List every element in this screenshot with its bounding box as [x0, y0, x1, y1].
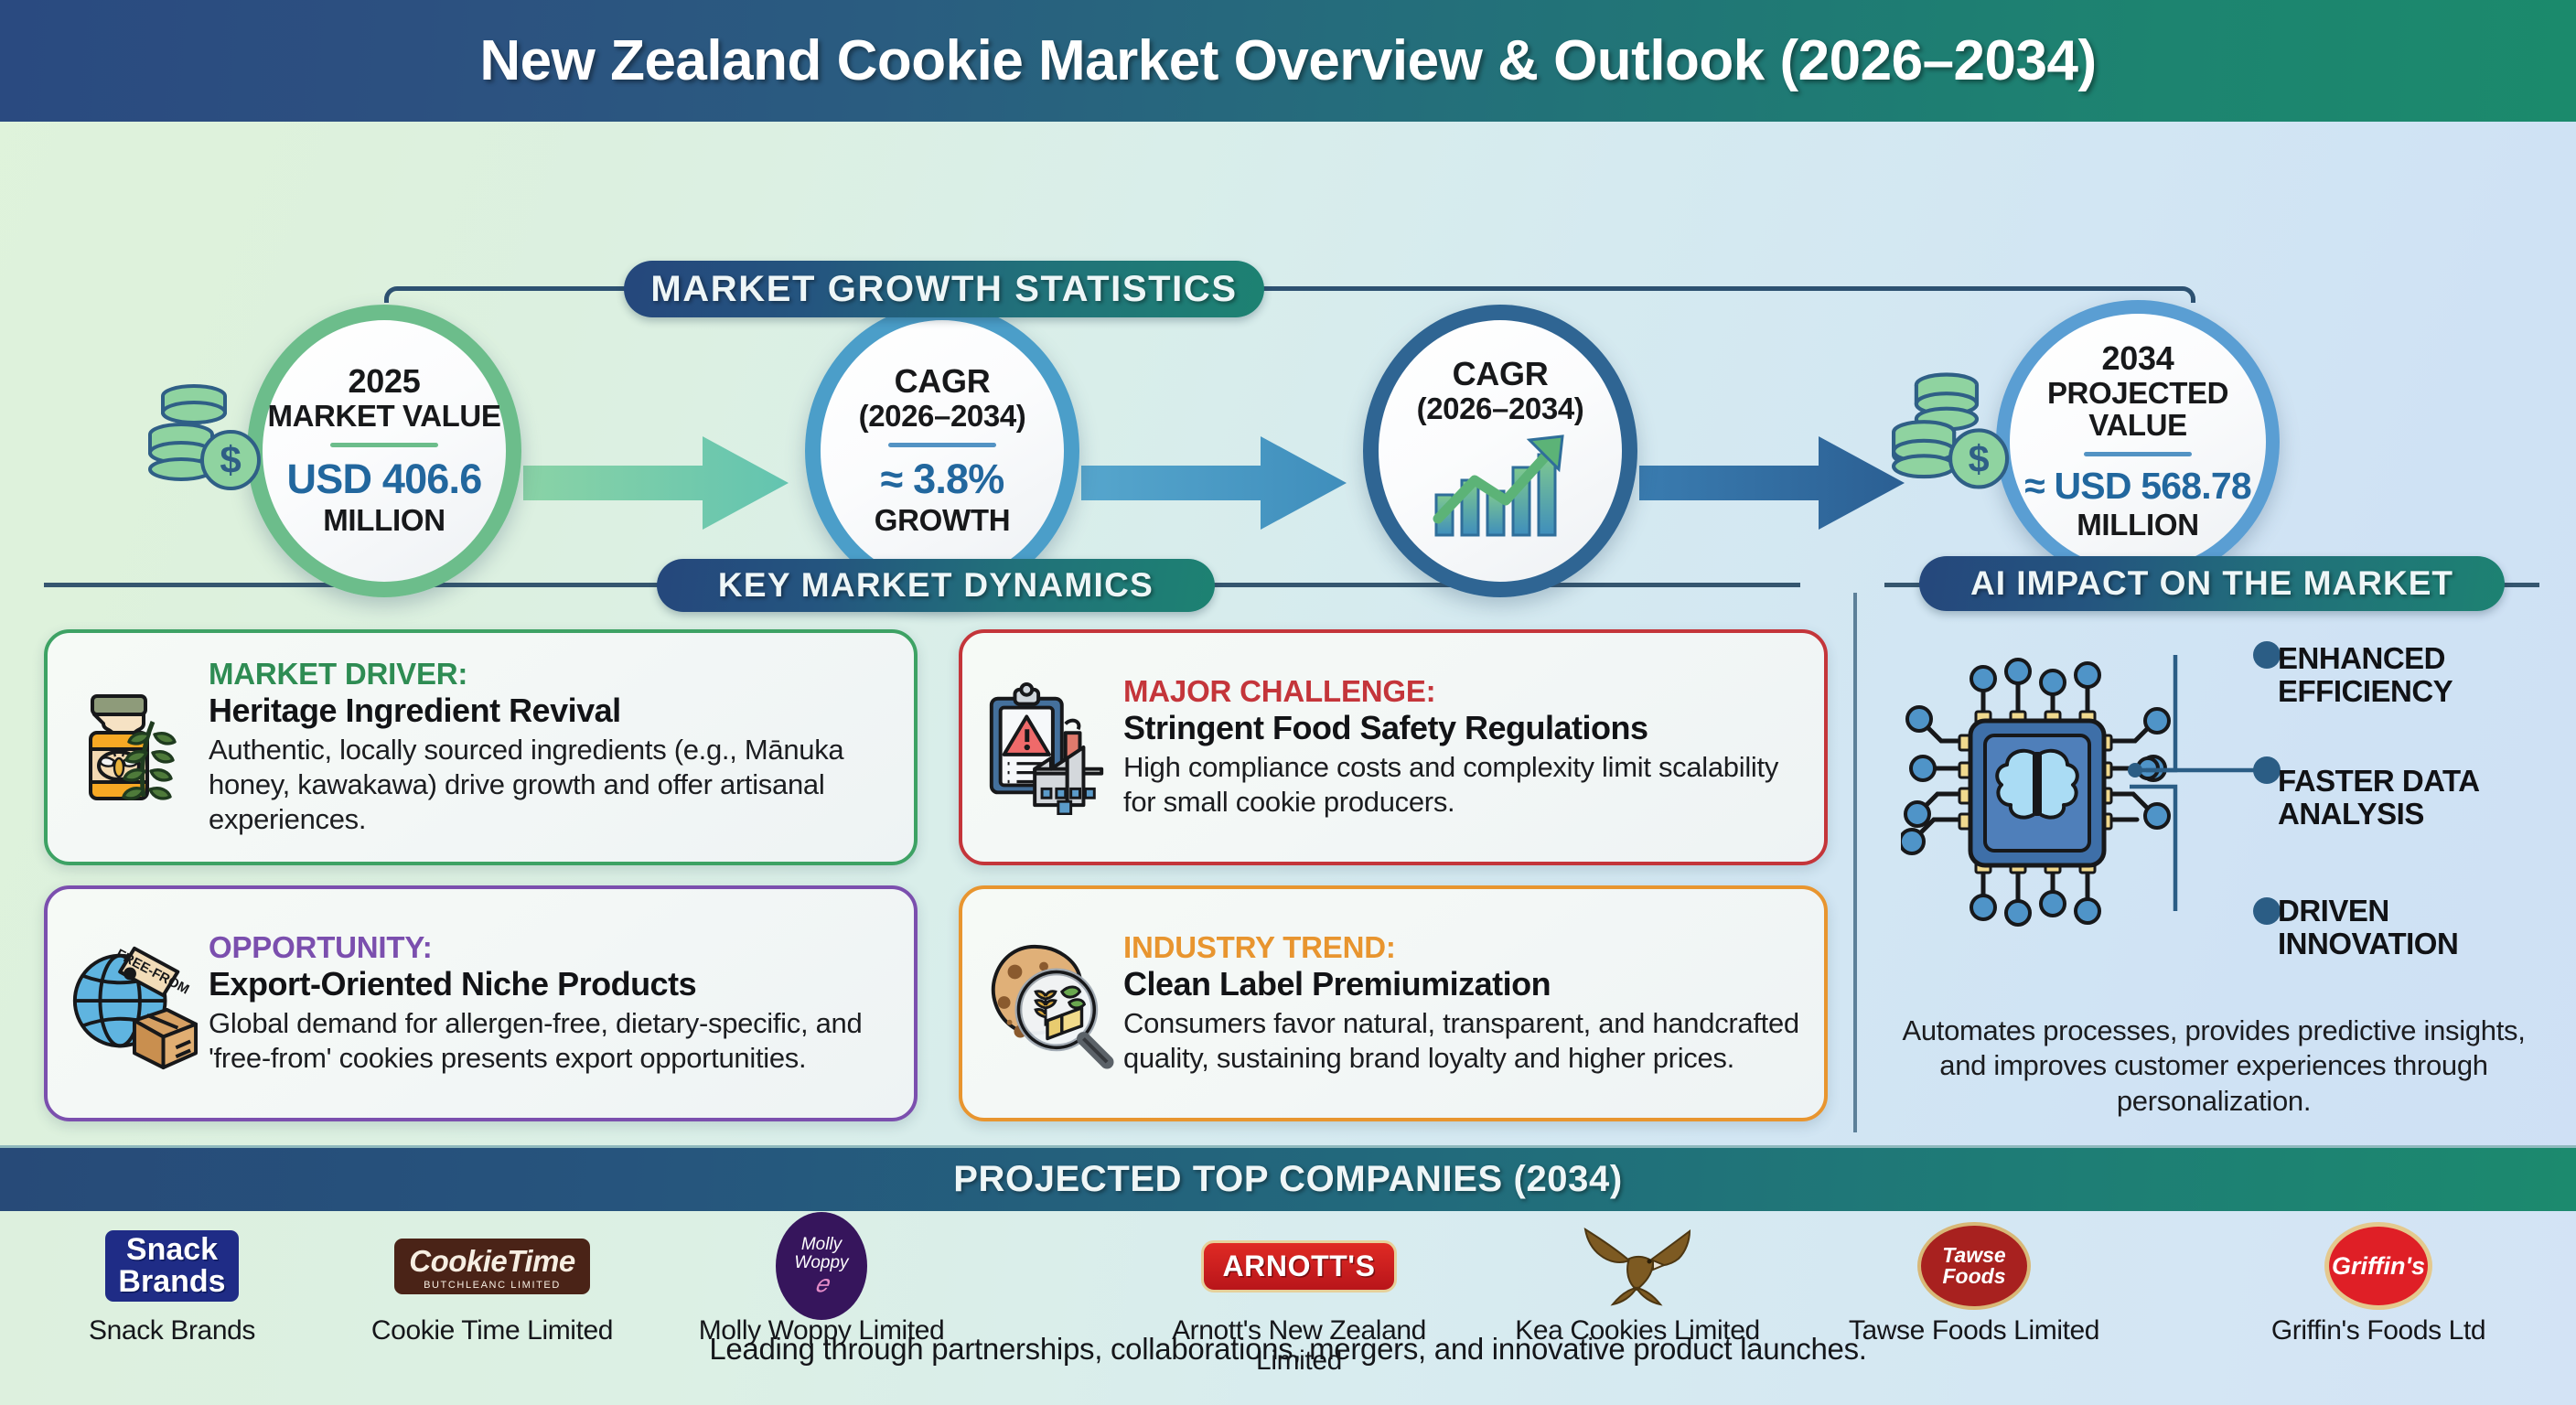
dynamics-card-text: INDUSTRY TREND: Clean Label Premiumizati…: [1114, 931, 1800, 1076]
card-headline: Clean Label Premiumization: [1123, 965, 1800, 1003]
logo-line-2: BUTCHLEANC LIMITED: [409, 1280, 574, 1291]
stat-label-primary: 2025: [349, 364, 421, 400]
kea-bird-logo: [1482, 1222, 1793, 1310]
section-label-text: KEY MARKET DYNAMICS: [718, 566, 1154, 605]
company-item[interactable]: Kea Cookies Limited: [1482, 1222, 1793, 1346]
market-growth-statistics-section: MARKET GROWTH STATISTICS $ 2025 MAR: [0, 122, 2576, 553]
logo-line-1: Tawse: [1942, 1245, 2005, 1266]
stat-divider: [2084, 452, 2192, 456]
stat-node-2025-market-value[interactable]: $ 2025 MARKET VALUE USD 406.6 MILLION: [247, 305, 521, 597]
stat-divider: [888, 443, 996, 447]
logo-line-2: Brands: [118, 1266, 225, 1298]
card-kicker: OPPORTUNITY:: [209, 931, 890, 965]
company-item[interactable]: Tawse Foods Tawse Foods Limited: [1819, 1222, 2130, 1346]
page-title: New Zealand Cookie Market Overview & Out…: [479, 28, 2096, 93]
company-item[interactable]: Molly Woppy 𝑒 Molly Woppy Limited: [666, 1222, 977, 1346]
card-body: Consumers favor natural, transparent, an…: [1123, 1006, 1800, 1076]
dynamics-card-opportunity[interactable]: FREE-FROM OPPORTUNITY: Export-Oriented N…: [44, 885, 918, 1121]
cookie-magnifier-icon: [979, 935, 1114, 1072]
card-kicker: MARKET DRIVER:: [209, 658, 890, 692]
stat-unit: GROWTH: [875, 503, 1011, 538]
stat-circle: 2025 MARKET VALUE USD 406.6 MILLION: [247, 305, 521, 597]
dynamics-card-text: MAJOR CHALLENGE: Stringent Food Safety R…: [1114, 675, 1800, 820]
tawse-foods-logo: Tawse Foods: [1819, 1222, 2130, 1310]
logo-line-1: Griffin's: [2324, 1222, 2432, 1310]
dynamics-card-major-challenge[interactable]: MAJOR CHALLENGE: Stringent Food Safety R…: [959, 629, 1828, 865]
griffins-logo: Griffin's: [2223, 1222, 2534, 1310]
molly-woppy-logo: Molly Woppy 𝑒: [666, 1222, 977, 1310]
growth-chart-arrow-icon: [1427, 431, 1573, 545]
page-header: New Zealand Cookie Market Overview & Out…: [0, 0, 2576, 122]
card-headline: Heritage Ingredient Revival: [209, 692, 890, 729]
stat-node-cagr-growth[interactable]: CAGR (2026–2034) ≈ 3.8% GROWTH: [805, 305, 1079, 597]
card-body: High compliance costs and complexity lim…: [1123, 750, 1800, 820]
cookie-time-logo: CookieTime BUTCHLEANC LIMITED: [337, 1222, 648, 1310]
section-label-text: MARKET GROWTH STATISTICS: [650, 269, 1237, 310]
ai-benefit-item: DRIVEN INNOVATION: [2278, 895, 2543, 961]
ai-caption: Automates processes, provides predictive…: [1894, 1014, 2534, 1119]
card-headline: Export-Oriented Niche Products: [209, 965, 890, 1003]
logo-line-2: Foods: [1943, 1266, 2006, 1287]
dynamics-card-text: OPPORTUNITY: Export-Oriented Niche Produ…: [199, 931, 890, 1076]
stat-value: USD 406.6: [287, 456, 482, 503]
companies-footnote: Leading through partnerships, collaborat…: [0, 1332, 2576, 1367]
projected-top-companies-banner: PROJECTED TOP COMPANIES (2034): [0, 1145, 2576, 1211]
clipboard-warning-factory-icon: [979, 679, 1114, 816]
honey-jar-fern-icon: [64, 679, 199, 816]
dynamics-card-industry-trend[interactable]: INDUSTRY TREND: Clean Label Premiumizati…: [959, 885, 1828, 1121]
stat-value: ≈ 3.8%: [881, 456, 1004, 503]
stat-label-secondary: (2026–2034): [859, 400, 1026, 433]
section-label-key-market-dynamics: KEY MARKET DYNAMICS: [657, 559, 1215, 612]
coin-stack-dollar-icon: $: [146, 369, 284, 510]
stat-label-secondary: (2026–2034): [1417, 392, 1584, 425]
arnotts-logo: ARNOTT'S: [1143, 1222, 1454, 1310]
globe-parcel-freefrom-tag-icon: FREE-FROM: [64, 935, 199, 1072]
vertical-divider: [1853, 593, 1857, 1132]
company-item[interactable]: Griffin's Griffin's Foods Ltd: [2223, 1222, 2534, 1346]
stat-node-2034-projected-value[interactable]: $ 2034 PROJECTED VALUE ≈ USD 568.78 MILL…: [1996, 300, 2280, 584]
logo-line-1: Molly: [801, 1236, 842, 1253]
stat-value: ≈ USD 568.78: [2024, 465, 2251, 508]
logo-line-1: Snack: [118, 1234, 225, 1266]
card-headline: Stringent Food Safety Regulations: [1123, 709, 1800, 746]
company-item[interactable]: CookieTime BUTCHLEANC LIMITED Cookie Tim…: [337, 1222, 648, 1346]
stat-label-secondary: MARKET VALUE: [268, 400, 501, 433]
card-kicker: MAJOR CHALLENGE:: [1123, 675, 1800, 709]
ai-benefit-item: ENHANCED EFFICIENCY: [2278, 642, 2543, 709]
card-kicker: INDUSTRY TREND:: [1123, 931, 1800, 965]
stat-unit: MILLION: [323, 503, 445, 538]
logo-line-1: CookieTime: [409, 1244, 574, 1279]
logo-line-1: ARNOTT'S: [1201, 1240, 1396, 1292]
snack-brands-logo: Snack Brands: [16, 1222, 327, 1310]
company-item[interactable]: Snack Brands Snack Brands: [16, 1222, 327, 1346]
section-label-text: AI IMPACT ON THE MARKET: [1970, 564, 2453, 603]
dynamics-card-text: MARKET DRIVER: Heritage Ingredient Reviv…: [199, 658, 890, 836]
stat-circle: CAGR (2026–2034): [1363, 305, 1637, 597]
ai-benefit-item: FASTER DATA ANALYSIS: [2278, 765, 2543, 831]
stat-circle: 2034 PROJECTED VALUE ≈ USD 568.78 MILLIO…: [1996, 300, 2280, 584]
companies-strip: Snack Brands Snack Brands CookieTime BUT…: [0, 1211, 2576, 1405]
stat-divider: [330, 443, 438, 447]
card-body: Global demand for allergen-free, dietary…: [209, 1006, 890, 1076]
stat-unit: MILLION: [2077, 508, 2199, 542]
stat-circle: CAGR (2026–2034) ≈ 3.8% GROWTH: [805, 305, 1079, 597]
companies-banner-title: PROJECTED TOP COMPANIES (2034): [953, 1159, 1623, 1200]
coin-stack-dollar-icon: $: [1892, 360, 2034, 507]
svg-text:$: $: [1969, 438, 1990, 480]
stat-label-primary: CAGR: [1453, 357, 1549, 392]
ai-impact-panel: ENHANCED EFFICIENCY FASTER DATA ANALYSIS…: [1884, 622, 2539, 1134]
logo-swirl-icon: 𝑒: [815, 1271, 828, 1296]
stat-node-cagr-chart[interactable]: CAGR (2026–2034): [1363, 305, 1637, 597]
stat-label-secondary: PROJECTED VALUE: [2010, 377, 2266, 442]
stat-label-primary: CAGR: [895, 364, 991, 400]
ai-connector-lines: [1884, 622, 2314, 1006]
stat-label-primary: 2034: [2102, 341, 2174, 377]
section-label-market-growth: MARKET GROWTH STATISTICS: [624, 261, 1264, 317]
svg-text:$: $: [220, 438, 241, 481]
section-label-ai-impact: AI IMPACT ON THE MARKET: [1919, 556, 2505, 611]
dynamics-card-market-driver[interactable]: MARKET DRIVER: Heritage Ingredient Reviv…: [44, 629, 918, 865]
card-body: Authentic, locally sourced ingredients (…: [209, 733, 890, 836]
